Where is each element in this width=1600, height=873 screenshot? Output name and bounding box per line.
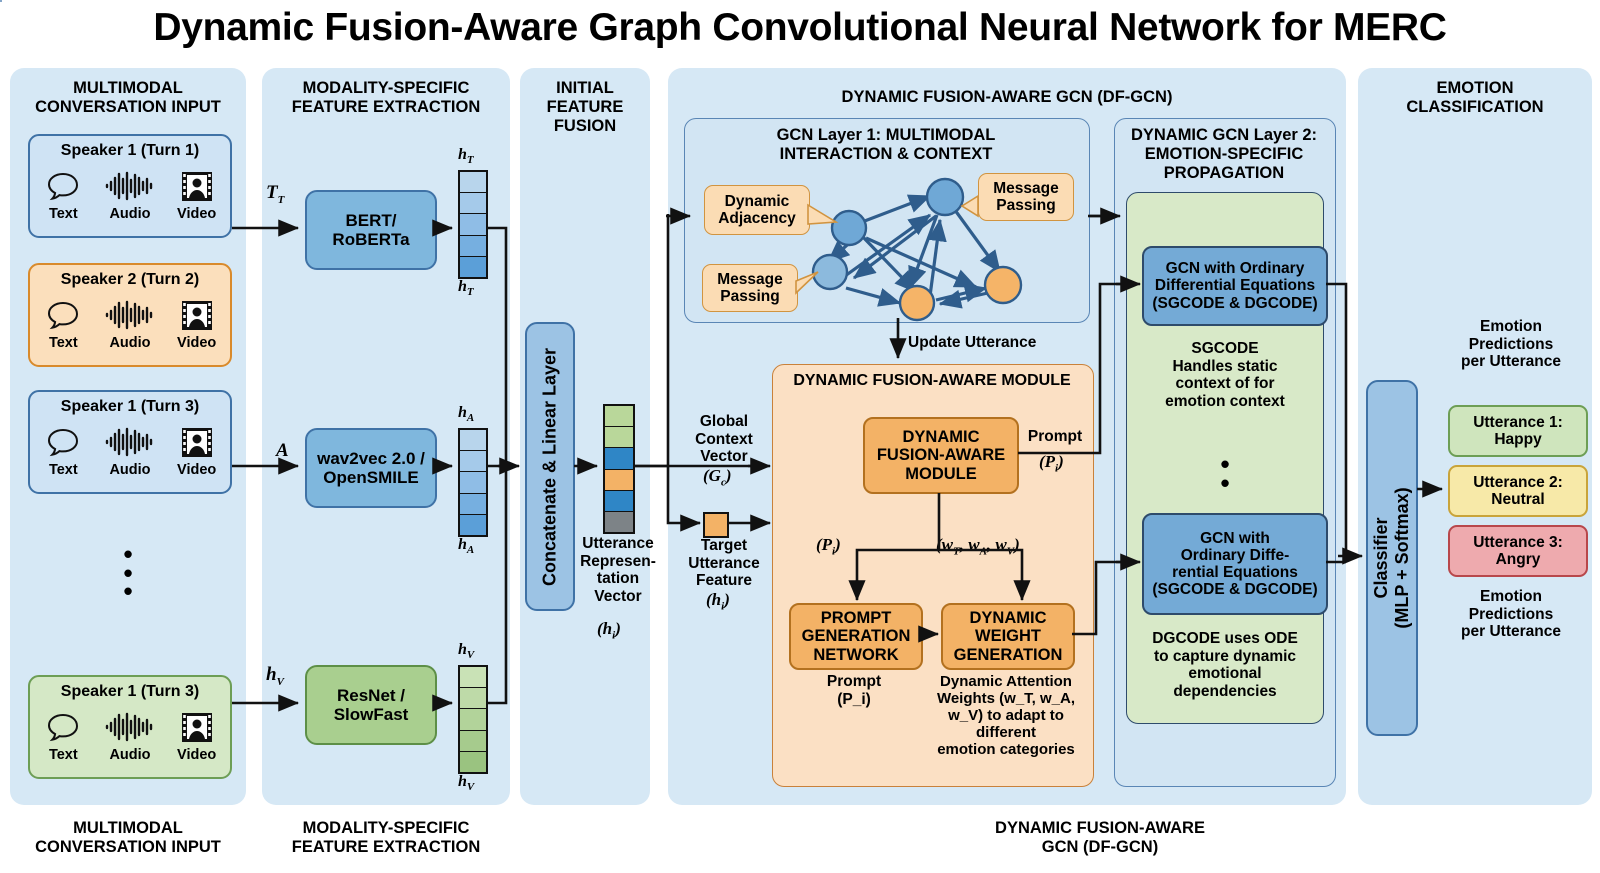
modality-label: Text [32, 206, 94, 222]
feature-stack-text [458, 170, 488, 279]
video-frame-icon [166, 423, 228, 461]
input-symbol-video: hV [266, 664, 284, 688]
prompt-generation-network-box[interactable]: PROMPTGENERATIONNETWORK [789, 603, 923, 670]
waveform-icon [99, 708, 161, 746]
encoder-text-box[interactable]: BERT/RoBERTa [305, 190, 437, 270]
feature-label-audio-top: hA [458, 404, 474, 424]
prompt-generation-caption: Prompt(P_i) [789, 673, 919, 708]
classifier-label: Classifier(MLP + Softmax) [1371, 487, 1413, 628]
callout-message-passing-bottom: MessagePassing [702, 264, 798, 312]
callout-dynamic-adjacency: DynamicAdjacency [704, 185, 810, 235]
modality-label: Video [166, 206, 228, 222]
modality-video: Video [166, 167, 228, 222]
utterance-representation-vector [603, 404, 635, 534]
modality-audio: Audio [99, 423, 161, 478]
speaker-name: Speaker 1 (Turn 1) [30, 142, 230, 160]
sgcode-box[interactable]: GCN with OrdinaryDifferential Equations(… [1142, 246, 1328, 326]
feature-label-video-bottom: hV [458, 773, 474, 793]
feature-stack-audio [458, 428, 488, 537]
speaker-name: Speaker 2 (Turn 2) [30, 271, 230, 289]
modality-label: Text [32, 335, 94, 351]
target-utterance-feature-chip [703, 512, 729, 538]
input-ellipsis: ••• [28, 545, 228, 601]
dynamic-weight-caption: Dynamic AttentionWeights (w_T, w_A,w_V) … [929, 673, 1083, 758]
feature-stack-video [458, 665, 488, 774]
feature-label-audio-bottom: hA [458, 536, 474, 556]
encoder-audio-box[interactable]: wav2vec 2.0 /OpenSMILE [305, 428, 437, 508]
modality-text: Text [32, 423, 94, 478]
waveform-icon [99, 296, 161, 334]
branch-left-symbol: (Pi) [816, 535, 841, 557]
modality-audio: Audio [99, 708, 161, 763]
dynamic-fusion-aware-module-box[interactable]: DYNAMICFUSION-AWAREMODULE [863, 417, 1019, 494]
prediction-chip-1[interactable]: Utterance 1:Happy [1448, 405, 1588, 457]
dgcode-box[interactable]: GCN withOrdinary Diffe-rential Equations… [1142, 513, 1328, 615]
prediction-chip-3[interactable]: Utterance 3:Angry [1448, 525, 1588, 577]
modality-audio: Audio [99, 167, 161, 222]
prompt-output-symbol: (Pi) [1039, 452, 1064, 474]
panel-footer-df-gcn: DYNAMIC FUSION-AWAREGCN (DF-GCN) [900, 819, 1300, 857]
gcn-layer2-ellipsis: •• [1134, 455, 1316, 492]
feature-label-text-top: hT [458, 146, 474, 166]
panel-header-initial-fusion: INITIALFEATUREFUSION [520, 79, 650, 135]
global-context-vector-caption: GlobalContextVector [678, 413, 770, 466]
gcn-layer2-header: DYNAMIC GCN Layer 2:EMOTION-SPECIFICPROP… [1114, 126, 1334, 182]
modality-label: Audio [99, 206, 161, 222]
modality-text: Text [32, 708, 94, 763]
modality-label: Audio [99, 462, 161, 478]
panel-footer-multimodal-input: MULTIMODALCONVERSATION INPUT [10, 819, 246, 857]
waveform-icon [99, 423, 161, 461]
speech-bubble-icon [32, 167, 94, 205]
panel-header-emotion-classification: EMOTIONCLASSIFICATION [1358, 79, 1592, 117]
page-title: Dynamic Fusion-Aware Graph Convolutional… [0, 6, 1600, 50]
video-frame-icon [166, 296, 228, 334]
emotion-predictions-caption-top: EmotionPredictionsper Utterance [1430, 318, 1592, 371]
video-frame-icon [166, 167, 228, 205]
input-symbol-text: TT [266, 182, 284, 206]
target-utterance-feature-caption: TargetUtteranceFeature [672, 537, 776, 590]
global-context-vector-symbol: (Gc) [703, 466, 732, 488]
speech-bubble-icon [32, 708, 94, 746]
modality-label: Audio [99, 747, 161, 763]
modality-video: Video [166, 423, 228, 478]
update-utterance-label: Update Utterance [908, 334, 1068, 352]
speaker-card-4[interactable]: Speaker 1 (Turn 3) Text Audio [28, 675, 232, 779]
panel-header-multimodal-input: MULTIMODALCONVERSATION INPUT [10, 79, 246, 117]
prompt-output-label: Prompt [1018, 428, 1092, 446]
speaker-card-3[interactable]: Speaker 1 (Turn 3) Text Audio [28, 390, 232, 494]
modality-text: Text [32, 296, 94, 351]
dynamic-weight-generation-box[interactable]: DYNAMICWEIGHTGENERATION [941, 603, 1075, 670]
speech-bubble-icon [32, 423, 94, 461]
sgcode-note: SGCODEHandles staticcontext of foremotio… [1134, 340, 1316, 411]
classifier-box[interactable]: Classifier(MLP + Softmax) [1366, 380, 1418, 736]
modality-label: Video [166, 747, 228, 763]
speaker-card-1[interactable]: Speaker 1 (Turn 1) Text Audio [28, 134, 232, 238]
panel-header-df-gcn: DYNAMIC FUSION-AWARE GCN (DF-GCN) [668, 88, 1346, 107]
encoder-video-box[interactable]: ResNet /SlowFast [305, 665, 437, 745]
modality-label: Video [166, 462, 228, 478]
concatenate-linear-layer-label: Concatenate & Linear Layer [540, 347, 561, 585]
emotion-predictions-caption-bottom: EmotionPredictionsper Utterance [1430, 588, 1592, 641]
utterance-vector-symbol: (hi) [597, 619, 621, 641]
input-symbol-audio: A [276, 440, 289, 462]
modality-text: Text [32, 167, 94, 222]
dynamic-fusion-aware-module-header: DYNAMIC FUSION-AWARE MODULE [772, 372, 1092, 390]
modality-label: Text [32, 747, 94, 763]
speaker-name: Speaker 1 (Turn 3) [30, 683, 230, 701]
modality-label: Audio [99, 335, 161, 351]
dgcode-note: DGCODE uses ODEto capture dynamicemotion… [1134, 630, 1316, 701]
speaker-name: Speaker 1 (Turn 3) [30, 398, 230, 416]
target-utterance-feature-symbol: (hi) [706, 590, 730, 612]
waveform-icon [99, 167, 161, 205]
panel-header-feature-extraction: MODALITY-SPECIFICFEATURE EXTRACTION [262, 79, 510, 117]
modality-video: Video [166, 708, 228, 763]
modality-video: Video [166, 296, 228, 351]
callout-message-passing-top: MessagePassing [978, 173, 1074, 221]
panel-footer-feature-extraction: MODALITY-SPECIFICFEATURE EXTRACTION [262, 819, 510, 857]
modality-audio: Audio [99, 296, 161, 351]
gcn-layer1-header: GCN Layer 1: MULTIMODALINTERACTION & CON… [684, 126, 1088, 164]
feature-label-video-top: hV [458, 641, 474, 661]
speaker-card-2[interactable]: Speaker 2 (Turn 2) Text Audio [28, 263, 232, 367]
prediction-chip-2[interactable]: Utterance 2:Neutral [1448, 465, 1588, 517]
modality-label: Video [166, 335, 228, 351]
feature-label-text-bottom: hT [458, 278, 474, 298]
speech-bubble-icon [32, 296, 94, 334]
modality-label: Text [32, 462, 94, 478]
video-frame-icon [166, 708, 228, 746]
utterance-vector-caption: UtteranceRepresen-tationVector [563, 535, 673, 606]
branch-right-symbol: (wT, wA, wV) [936, 535, 1020, 557]
